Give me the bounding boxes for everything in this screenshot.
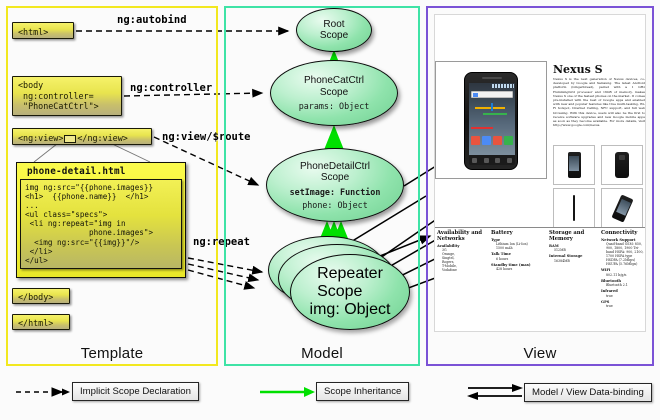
legend-label-data-binding: Model / View Data-binding: [524, 383, 652, 402]
spec-value: HSUPA (5.76Mbps): [601, 262, 646, 266]
spec-value: 802.11 b/g/n: [601, 273, 646, 277]
scope-repeater-line2: Scope: [317, 283, 362, 300]
note-title: phone-detail.html: [17, 163, 185, 179]
scope-repeater: Repeater Scope img: Object: [290, 254, 410, 330]
template-column-label: Template: [8, 345, 216, 362]
phone-wallpaper-line-3: [471, 127, 493, 129]
phone-specs-table: Availability and Networks Availability 3…: [435, 227, 646, 332]
html-close-tag: </html>: [12, 314, 70, 330]
phone-thumbnail-list: [553, 145, 646, 231]
legend-label-implicit-scope: Implicit Scope Declaration: [72, 382, 199, 401]
phone-nav-bar: [469, 155, 515, 165]
scope-root-line2: Scope: [320, 30, 348, 41]
legend-item-implicit-scope: Implicit Scope Declaration: [14, 382, 199, 401]
app-icon-1: [471, 136, 480, 145]
scope-phonecatctrl: PhoneCatCtrl Scope params: Object: [270, 60, 398, 126]
scope-repeater-prop-img: img: Object: [310, 301, 391, 319]
body-open-tag: <body ng:controller= "PhoneCatCtrl">: [12, 76, 122, 116]
scope-root-line1: Root: [323, 19, 344, 30]
spec-col-storage: Storage and Memory RAM 512MB Internal St…: [549, 230, 601, 263]
scope-repeater-stack: Repeater Scope img: Object: [268, 236, 408, 332]
label-ng-autobind: ng:autobind: [117, 14, 187, 26]
spec-heading-availability: Availability and Networks: [437, 230, 485, 242]
spec-group: Availability 3G Orange, Singtel, Rogers,…: [437, 244, 485, 272]
spec-group: Type Lithium Ion (Li-Ion) 1500 mAh: [491, 238, 543, 250]
phone-description: Nexus S is the next generation of Nexus …: [553, 77, 645, 141]
ng-view-open-label: <ng:view>: [18, 133, 63, 143]
spec-group: Infrared true: [601, 289, 646, 297]
phone-name-heading: Nexus S: [553, 63, 646, 76]
spec-value: 6 hours: [491, 257, 543, 261]
ng-view-placeholder-icon: [64, 135, 76, 143]
legend-label-scope-inheritance: Scope Inheritance: [316, 382, 409, 401]
phone-wallpaper-line-1: [475, 107, 505, 109]
legend-item-scope-inheritance: Scope Inheritance: [258, 382, 409, 401]
ng-view-tag: <ng:view></ng:view>: [12, 128, 152, 145]
spec-col-connectivity: Connectivity Network Support Quad-band G…: [601, 230, 646, 308]
rendered-view-page: Nexus S Nexus S is the next generation o…: [434, 14, 646, 332]
spec-value: 428 hours: [491, 267, 543, 271]
spec-group: RAM 512MB: [549, 244, 601, 252]
nav-button-4: [507, 158, 512, 163]
scope-detail-prop-phone: phone: Object: [302, 200, 368, 210]
spec-group: WiFi 802.11 b/g/n: [601, 268, 646, 276]
view-column-label: View: [428, 345, 652, 362]
spec-group: Network Support Quad-band GSM: 850, 900,…: [601, 238, 646, 266]
spec-col-battery: Battery Type Lithium Ion (Li-Ion) 1500 m…: [491, 230, 543, 271]
spec-value: 1500 mAh: [491, 246, 543, 250]
phone-app-icons: [471, 136, 513, 145]
scope-detail-prop-setimage: setImage: Function: [290, 187, 381, 197]
phone-screen: [469, 83, 515, 155]
body-close-tag: </body>: [12, 288, 70, 304]
legend-green-arrow-icon: [258, 384, 316, 400]
app-icon-2: [482, 136, 491, 145]
scope-phonedetailctrl: PhoneDetailCtrl Scope setImage: Function…: [266, 148, 404, 222]
spec-value: 512MB: [549, 248, 601, 252]
thumbnail-phone-back[interactable]: [601, 145, 643, 185]
spec-group: Bluetooth Bluetooth 2.1: [601, 279, 646, 287]
scope-cat-prop-params: params: Object: [299, 101, 370, 111]
thumbnail-phone-angled[interactable]: [601, 188, 643, 228]
phone-wallpaper-line-2: [483, 113, 507, 115]
thumbnail-phone-front[interactable]: [553, 145, 595, 185]
spec-value: 16384MB: [549, 259, 601, 263]
scope-detail-line1: PhoneDetailCtrl: [300, 161, 370, 172]
spec-value: Bluetooth 2.1: [601, 283, 646, 287]
app-icon-3: [493, 136, 502, 145]
label-ng-controller: ng:controller: [130, 82, 212, 94]
spec-col-availability: Availability and Networks Availability 3…: [437, 230, 485, 272]
phone-search-widget: [471, 91, 513, 98]
scope-detail-line2: Scope: [321, 172, 349, 183]
spec-value: true: [601, 294, 646, 298]
legend-double-arrow-icon: [466, 382, 524, 402]
spec-group: Standby time (max) 428 hours: [491, 263, 543, 271]
phone-device-image: [464, 72, 518, 170]
model-column-label: Model: [226, 345, 418, 362]
phone-wallpaper-line-4: [491, 103, 493, 111]
scope-root: Root Scope: [296, 8, 372, 52]
scope-repeater-line1: Repeater: [317, 265, 383, 282]
spec-group: Internal Storage 16384MB: [549, 254, 601, 262]
nav-button-3: [495, 158, 500, 163]
thumbnail-phone-edge[interactable]: [553, 188, 595, 228]
nav-button-1: [472, 158, 477, 163]
nav-button-2: [484, 158, 489, 163]
thumb-image-back: [615, 152, 629, 178]
spec-heading-storage: Storage and Memory: [549, 230, 601, 242]
ng-view-close-label: </ng:view>: [77, 133, 127, 143]
spec-heading-connectivity: Connectivity: [601, 230, 646, 236]
thumb-image-edge: [573, 195, 576, 221]
legend: Implicit Scope Declaration Scope Inherit…: [0, 374, 660, 420]
note-code: img ng:src="{{phone.images}} <h1> {{phon…: [20, 179, 182, 269]
legend-item-data-binding: Model / View Data-binding: [466, 382, 652, 402]
spec-value: Vodafone: [437, 268, 485, 272]
scope-cat-line2: Scope: [320, 87, 348, 98]
diagram-canvas: Template <html> <body ng:controller= "Ph…: [0, 0, 660, 420]
legend-dashed-arrow-icon: [14, 384, 72, 400]
phone-earpiece: [482, 77, 502, 79]
phone-main-image-frame: [435, 61, 547, 179]
spec-heading-battery: Battery: [491, 230, 543, 236]
thumb-image-front: [568, 152, 581, 178]
phone-status-bar: [492, 84, 514, 88]
phone-detail-template-note: phone-detail.html img ng:src="{{phone.im…: [16, 162, 186, 278]
spec-value: true: [601, 304, 646, 308]
html-open-tag: <html>: [12, 22, 74, 39]
scope-cat-line1: PhoneCatCtrl: [304, 75, 364, 86]
app-icon-4: [504, 136, 513, 145]
spec-group: GPS true: [601, 300, 646, 308]
thumb-image-angled: [611, 194, 633, 222]
spec-group: Talk Time 6 hours: [491, 252, 543, 260]
